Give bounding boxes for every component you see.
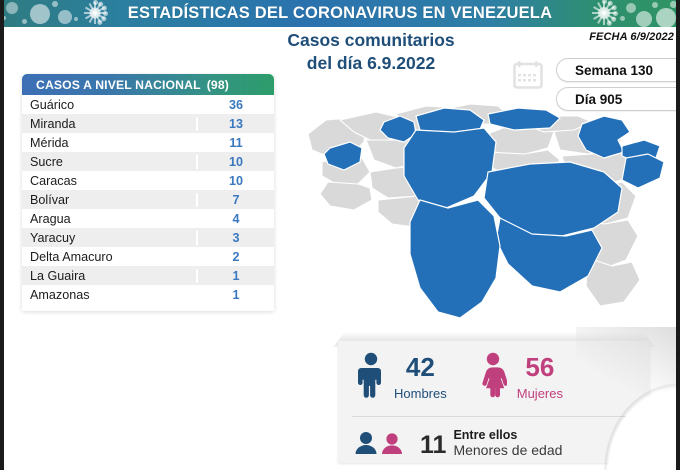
table-cell-state: Mérida: [22, 136, 196, 150]
table-cell-count: 2: [196, 250, 274, 264]
table-cell-state: Delta Amacuro: [22, 250, 196, 264]
table-row: Miranda13: [22, 114, 274, 133]
venezuela-map-svg: [292, 96, 680, 328]
women-count: 56: [525, 354, 554, 380]
table-row: Aragua4: [22, 209, 274, 228]
table-row: Amazonas1: [22, 285, 274, 304]
infographic-root: ESTADÍSTICAS DEL CORONAVIRUS EN VENEZUEL…: [0, 0, 680, 470]
table-footer-spacer: [22, 304, 274, 311]
table-cell-state: Miranda: [22, 117, 196, 131]
table-cell-count: 10: [196, 174, 274, 188]
male-figure-icon: [358, 352, 384, 403]
women-text: 56 Mujeres: [517, 354, 563, 400]
fecha-label: FECHA 6/9/2022: [474, 31, 674, 43]
table-row: Delta Amacuro2: [22, 247, 274, 266]
stats-panel: 42 Hombres 56 Mujeres: [338, 341, 650, 463]
table-row: Mérida11: [22, 133, 274, 152]
minors-count: 11: [420, 434, 446, 458]
table-row: Guárico36: [22, 95, 274, 114]
table-cell-state: La Guaira: [22, 269, 196, 283]
week-pill[interactable]: Semana 130: [556, 58, 680, 82]
men-stat: 42 Hombres: [358, 352, 447, 403]
minors-stat-row: 11 Entre ellos Menores de edad: [338, 423, 650, 463]
table-row: Caracas10: [22, 171, 274, 190]
right-edge-strip: [676, 0, 680, 470]
table-cell-count: 1: [196, 269, 274, 283]
minors-labels: Entre ellos Menores de edad: [453, 428, 562, 458]
two-persons-icon: [354, 431, 406, 455]
venezuela-map: [292, 96, 680, 328]
table-row: Sucre10: [22, 152, 274, 171]
men-text: 42 Hombres: [394, 354, 447, 400]
table-cell-count: 11: [196, 136, 274, 150]
national-cases-table: CASOS A NIVEL NACIONAL (98) Guárico36Mir…: [22, 74, 274, 311]
table-header-count: (98): [207, 78, 229, 92]
table-cell-count: 10: [196, 155, 274, 169]
minors-label-main: Menores de edad: [453, 442, 562, 458]
day-pill[interactable]: Día 905: [556, 87, 680, 111]
page-title-line1: Casos comunitarios: [248, 29, 494, 52]
table-cell-state: Caracas: [22, 174, 196, 188]
table-body: Guárico36Miranda13Mérida11Sucre10Caracas…: [22, 95, 274, 304]
women-label: Mujeres: [517, 387, 563, 400]
table-cell-state: Amazonas: [22, 288, 196, 302]
page-title: Casos comunitarios del día 6.9.2022: [248, 29, 494, 75]
table-cell-state: Bolívar: [22, 193, 196, 207]
table-cell-state: Yaracuy: [22, 231, 196, 245]
table-row: Bolívar7: [22, 190, 274, 209]
table-cell-state: Aragua: [22, 212, 196, 226]
table-cell-count: 3: [196, 231, 274, 245]
female-figure-icon: [479, 352, 507, 403]
minors-label-top: Entre ellos: [453, 428, 562, 442]
table-row: La Guaira1: [22, 266, 274, 285]
header-banner: ESTADÍSTICAS DEL CORONAVIRUS EN VENEZUEL…: [0, 0, 680, 27]
gender-stats-row: 42 Hombres 56 Mujeres: [338, 341, 650, 413]
table-cell-count: 4: [196, 212, 274, 226]
table-header: CASOS A NIVEL NACIONAL (98): [22, 74, 274, 95]
men-count: 42: [406, 354, 435, 380]
women-stat: 56 Mujeres: [479, 352, 563, 403]
banner-title: ESTADÍSTICAS DEL CORONAVIRUS EN VENEZUEL…: [0, 0, 680, 27]
minors-text: 11 Entre ellos Menores de edad: [420, 428, 562, 458]
table-cell-count: 13: [196, 117, 274, 131]
men-label: Hombres: [394, 387, 447, 400]
table-cell-state: Guárico: [22, 98, 196, 112]
table-row: Yaracuy3: [22, 228, 274, 247]
page-title-line2: del día 6.9.2022: [248, 52, 494, 75]
table-cell-count: 36: [196, 98, 274, 112]
calendar-icon: [513, 60, 543, 89]
stats-divider: [352, 416, 636, 417]
table-cell-count: 1: [196, 288, 274, 302]
table-cell-count: 7: [196, 193, 274, 207]
left-edge-strip: [0, 0, 4, 470]
table-cell-state: Sucre: [22, 155, 196, 169]
table-header-title: CASOS A NIVEL NACIONAL: [36, 78, 201, 92]
